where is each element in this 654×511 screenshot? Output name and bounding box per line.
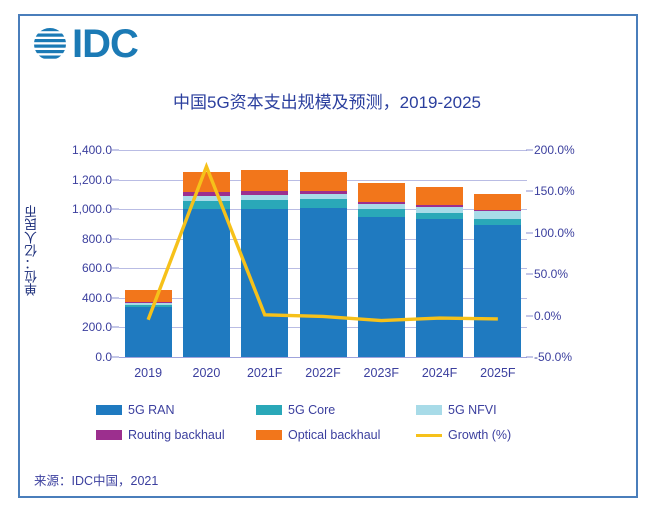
- legend-label: 5G NFVI: [448, 403, 497, 417]
- y-axis-left-tickmark: [112, 327, 119, 328]
- bar-segment[interactable]: [125, 303, 172, 304]
- y-axis-left-tick: 1,000.0: [46, 202, 112, 216]
- bar-segment[interactable]: [300, 208, 347, 357]
- bar-segment[interactable]: [183, 201, 230, 209]
- y-axis-left-tickmark: [112, 209, 119, 210]
- y-axis-left-tickmark: [112, 297, 119, 298]
- bar-segment[interactable]: [358, 209, 405, 216]
- bar-segment[interactable]: [241, 209, 288, 357]
- x-axis-label: 2020: [193, 366, 221, 380]
- legend-color-swatch: [256, 430, 282, 440]
- bar-group[interactable]: [241, 0, 288, 357]
- chart-legend: 5G RAN5G Core5G NFVI Routing backhaulOpt…: [96, 402, 566, 452]
- legend-label: Routing backhaul: [128, 428, 225, 442]
- bar-group[interactable]: [300, 0, 347, 357]
- x-axis-labels: 201920202021F2022F2023F2024F2025F: [119, 366, 527, 388]
- bar-group[interactable]: [183, 0, 230, 357]
- y-axis-left-tick: 400.0: [46, 291, 112, 305]
- bar-segment[interactable]: [474, 210, 521, 211]
- legend-label: Optical backhaul: [288, 428, 380, 442]
- frame-border-right: [636, 14, 638, 498]
- bar-segment[interactable]: [183, 172, 230, 192]
- bar-segment[interactable]: [474, 211, 521, 219]
- bar-segment[interactable]: [183, 192, 230, 196]
- legend-item[interactable]: Optical backhaul: [256, 428, 380, 442]
- bar-segment[interactable]: [125, 302, 172, 303]
- x-axis-label: 2025F: [480, 366, 515, 380]
- y-axis-left-tick: 600.0: [46, 261, 112, 275]
- bar-segment[interactable]: [125, 290, 172, 301]
- x-axis-label: 2019: [134, 366, 162, 380]
- y-axis-left-tickmark: [112, 238, 119, 239]
- y-axis-right-tick: 200.0%: [534, 143, 604, 157]
- bar-segment[interactable]: [241, 170, 288, 191]
- y-axis-left-tickmark: [112, 150, 119, 151]
- x-axis-label: 2021F: [247, 366, 282, 380]
- bar-segment[interactable]: [300, 172, 347, 190]
- y-axis-right-tickmark: [526, 150, 533, 151]
- bar-segment[interactable]: [416, 205, 463, 207]
- frame-border-left: [18, 14, 20, 498]
- chart-slide: IDC 中国5G资本支出规模及预测，2019-2025 单位：亿人民币 1,40…: [0, 0, 654, 511]
- legend-line-swatch: [416, 434, 442, 437]
- y-axis-left-tickmark: [112, 357, 119, 358]
- y-axis-right-tickmark: [526, 357, 533, 358]
- bar-segment[interactable]: [300, 199, 347, 208]
- x-axis-label: 2023F: [364, 366, 399, 380]
- bar-segment[interactable]: [241, 195, 288, 201]
- legend-item[interactable]: 5G Core: [256, 403, 335, 417]
- y-axis-left-tick: 1,400.0: [46, 143, 112, 157]
- bar-segment[interactable]: [416, 187, 463, 205]
- bar-segment[interactable]: [125, 305, 172, 307]
- bar-segment[interactable]: [358, 183, 405, 202]
- bar-group[interactable]: [474, 0, 521, 357]
- bar-segment[interactable]: [474, 219, 521, 225]
- legend-row-2: Routing backhaulOptical backhaulGrowth (…: [96, 427, 566, 443]
- x-axis-label: 2024F: [422, 366, 457, 380]
- bar-segment[interactable]: [416, 219, 463, 357]
- bar-segment[interactable]: [183, 196, 230, 201]
- source-note: 来源：IDC中国，2021: [34, 470, 158, 489]
- bar-segment[interactable]: [358, 217, 405, 357]
- bar-segment[interactable]: [474, 225, 521, 357]
- bar-segment[interactable]: [241, 191, 288, 195]
- y-axis-left-tickmark: [112, 179, 119, 180]
- bar-segment[interactable]: [241, 200, 288, 209]
- legend-label: 5G RAN: [128, 403, 175, 417]
- y-axis-left-tick: 1,200.0: [46, 173, 112, 187]
- legend-item[interactable]: Routing backhaul: [96, 428, 225, 442]
- bar-segment[interactable]: [300, 191, 347, 194]
- bar-segment[interactable]: [416, 213, 463, 220]
- legend-color-swatch: [96, 405, 122, 415]
- y-axis-right-tickmark: [526, 315, 533, 316]
- bar-segment[interactable]: [358, 204, 405, 209]
- legend-item[interactable]: 5G RAN: [96, 403, 175, 417]
- legend-item[interactable]: 5G NFVI: [416, 403, 497, 417]
- legend-color-swatch: [96, 430, 122, 440]
- y-axis-left-tick: 800.0: [46, 232, 112, 246]
- y-axis-right-tickmark: [526, 274, 533, 275]
- bar-segment[interactable]: [474, 194, 521, 210]
- y-axis-right-tick: 100.0%: [534, 226, 604, 240]
- y-axis-right-tick: 50.0%: [534, 267, 604, 281]
- y-axis-left-tick: 200.0: [46, 320, 112, 334]
- legend-row-1: 5G RAN5G Core5G NFVI: [96, 402, 566, 418]
- y-axis-left-tick: 0.0: [46, 350, 112, 364]
- bar-group[interactable]: [416, 0, 463, 357]
- y-axis-right-tickmark: [526, 232, 533, 233]
- legend-color-swatch: [416, 405, 442, 415]
- y-axis-title: 单位：亿人民币: [22, 205, 42, 296]
- legend-label: Growth (%): [448, 428, 511, 442]
- y-axis-right-tick: 0.0%: [534, 309, 604, 323]
- legend-color-swatch: [256, 405, 282, 415]
- y-axis-right-tick: -50.0%: [534, 350, 604, 364]
- legend-label: 5G Core: [288, 403, 335, 417]
- bar-segment[interactable]: [125, 307, 172, 357]
- y-axis-right-tickmark: [526, 191, 533, 192]
- bar-segment[interactable]: [358, 202, 405, 205]
- legend-item[interactable]: Growth (%): [416, 428, 511, 442]
- bar-segment[interactable]: [300, 194, 347, 199]
- y-axis-left-tickmark: [112, 268, 119, 269]
- bar-group[interactable]: [125, 0, 172, 357]
- y-axis-right-tick: 150.0%: [534, 184, 604, 198]
- x-axis-label: 2022F: [305, 366, 340, 380]
- bar-segment[interactable]: [416, 207, 463, 213]
- bar-group[interactable]: [358, 0, 405, 357]
- bar-segment[interactable]: [183, 209, 230, 357]
